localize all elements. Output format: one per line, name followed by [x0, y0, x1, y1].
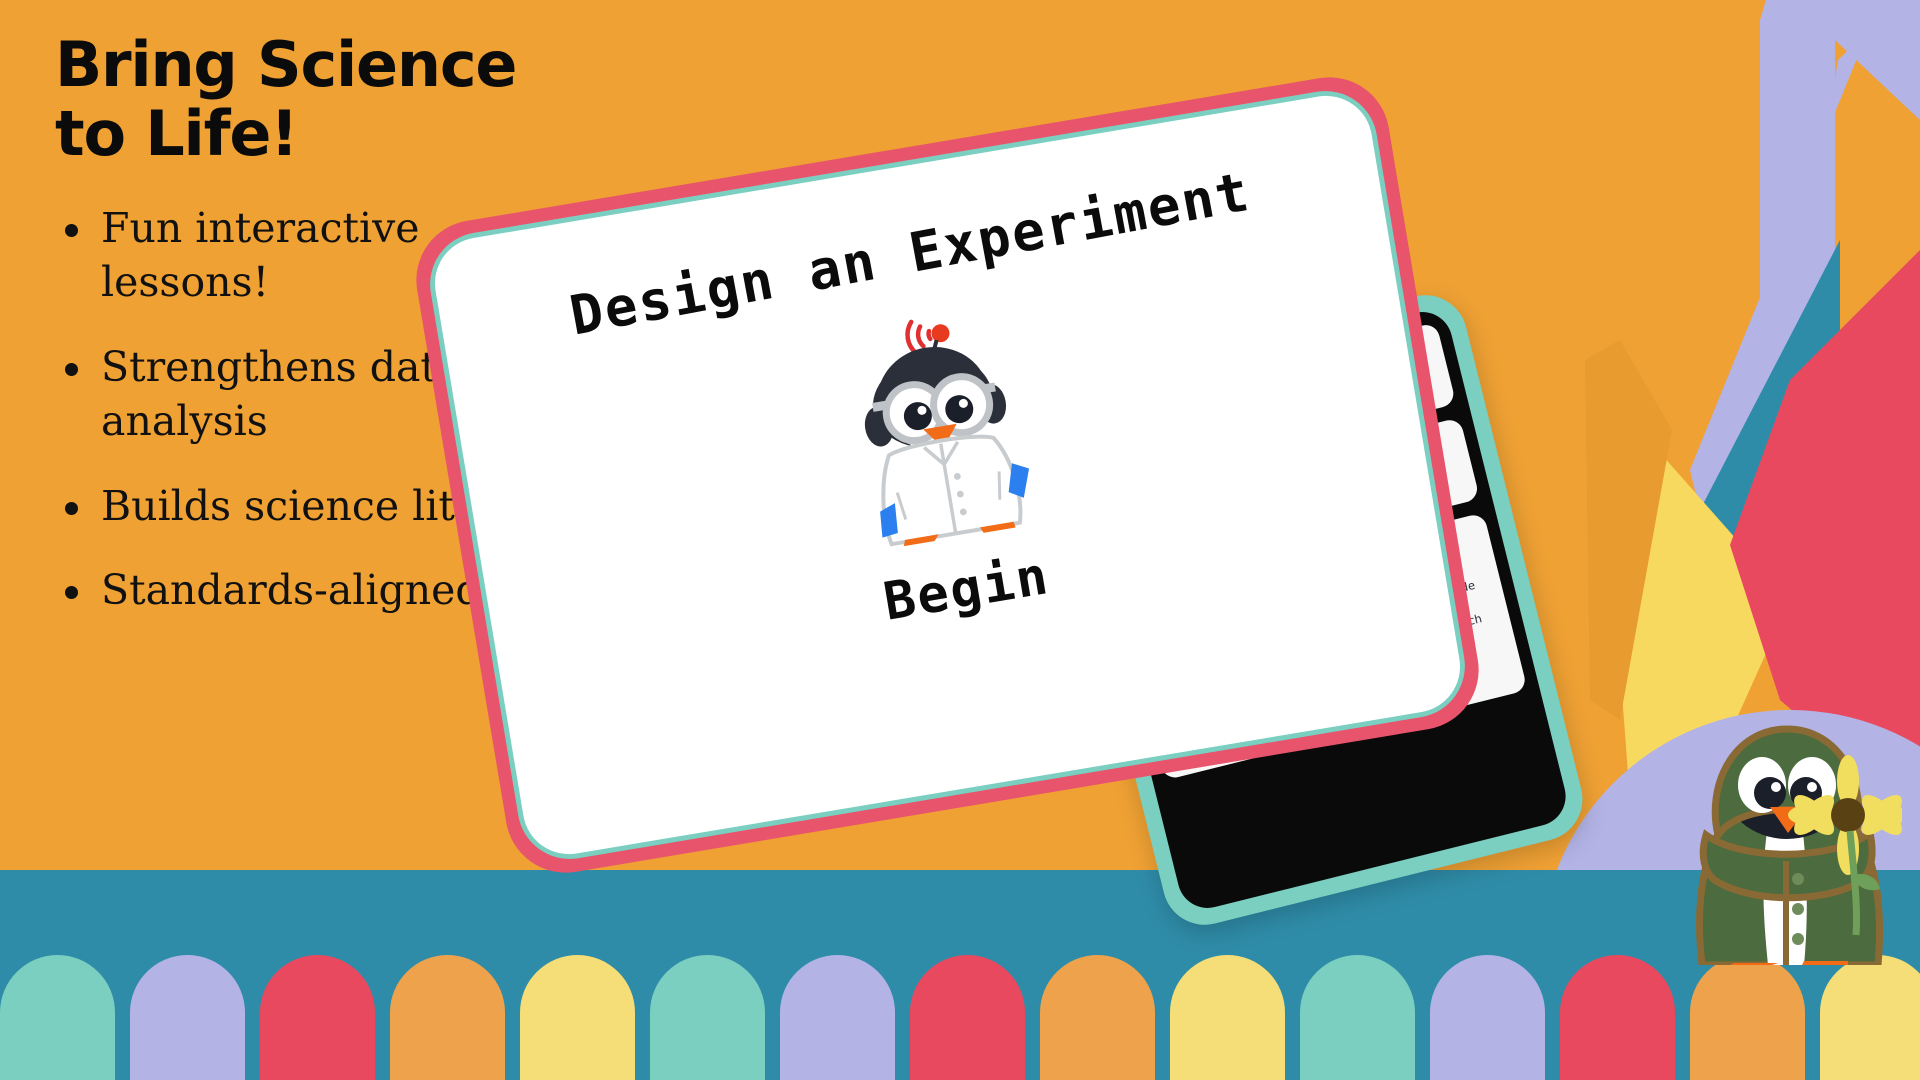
- bullet-dot-icon: [65, 502, 78, 515]
- arch-shape: [780, 955, 895, 1080]
- arch-shape: [390, 955, 505, 1080]
- bullet-text: Strengthens data analysis: [101, 343, 461, 446]
- penguin-scientist-icon: [803, 272, 1072, 561]
- arch-shape: [1430, 955, 1545, 1080]
- arch-shape: [1560, 955, 1675, 1080]
- arch-shape: [1300, 955, 1415, 1080]
- bullet-dot-icon: [65, 586, 78, 599]
- bullet-dot-icon: [65, 224, 78, 237]
- arch-shape: [650, 955, 765, 1080]
- bullet-dot-icon: [65, 363, 78, 376]
- arch-shape: [1820, 955, 1920, 1080]
- arch-shape: [1170, 955, 1285, 1080]
- arch-shape: [130, 955, 245, 1080]
- slide-canvas: Bring Science to Life! Fun interactive l…: [0, 0, 1920, 1080]
- arch-shape: [260, 955, 375, 1080]
- begin-button[interactable]: Begin: [880, 546, 1054, 633]
- penguin-with-sunflower-icon: [1672, 665, 1902, 970]
- bullet-text: Fun interactive lessons!: [101, 204, 420, 307]
- arch-shape: [1690, 955, 1805, 1080]
- arch-pattern: [0, 955, 1920, 1080]
- arch-shape: [0, 955, 115, 1080]
- bullet-text: Standards-aligned: [101, 566, 482, 614]
- arch-shape: [910, 955, 1025, 1080]
- arch-shape: [520, 955, 635, 1080]
- arch-shape: [1040, 955, 1155, 1080]
- page-title: Bring Science to Life!: [55, 30, 575, 169]
